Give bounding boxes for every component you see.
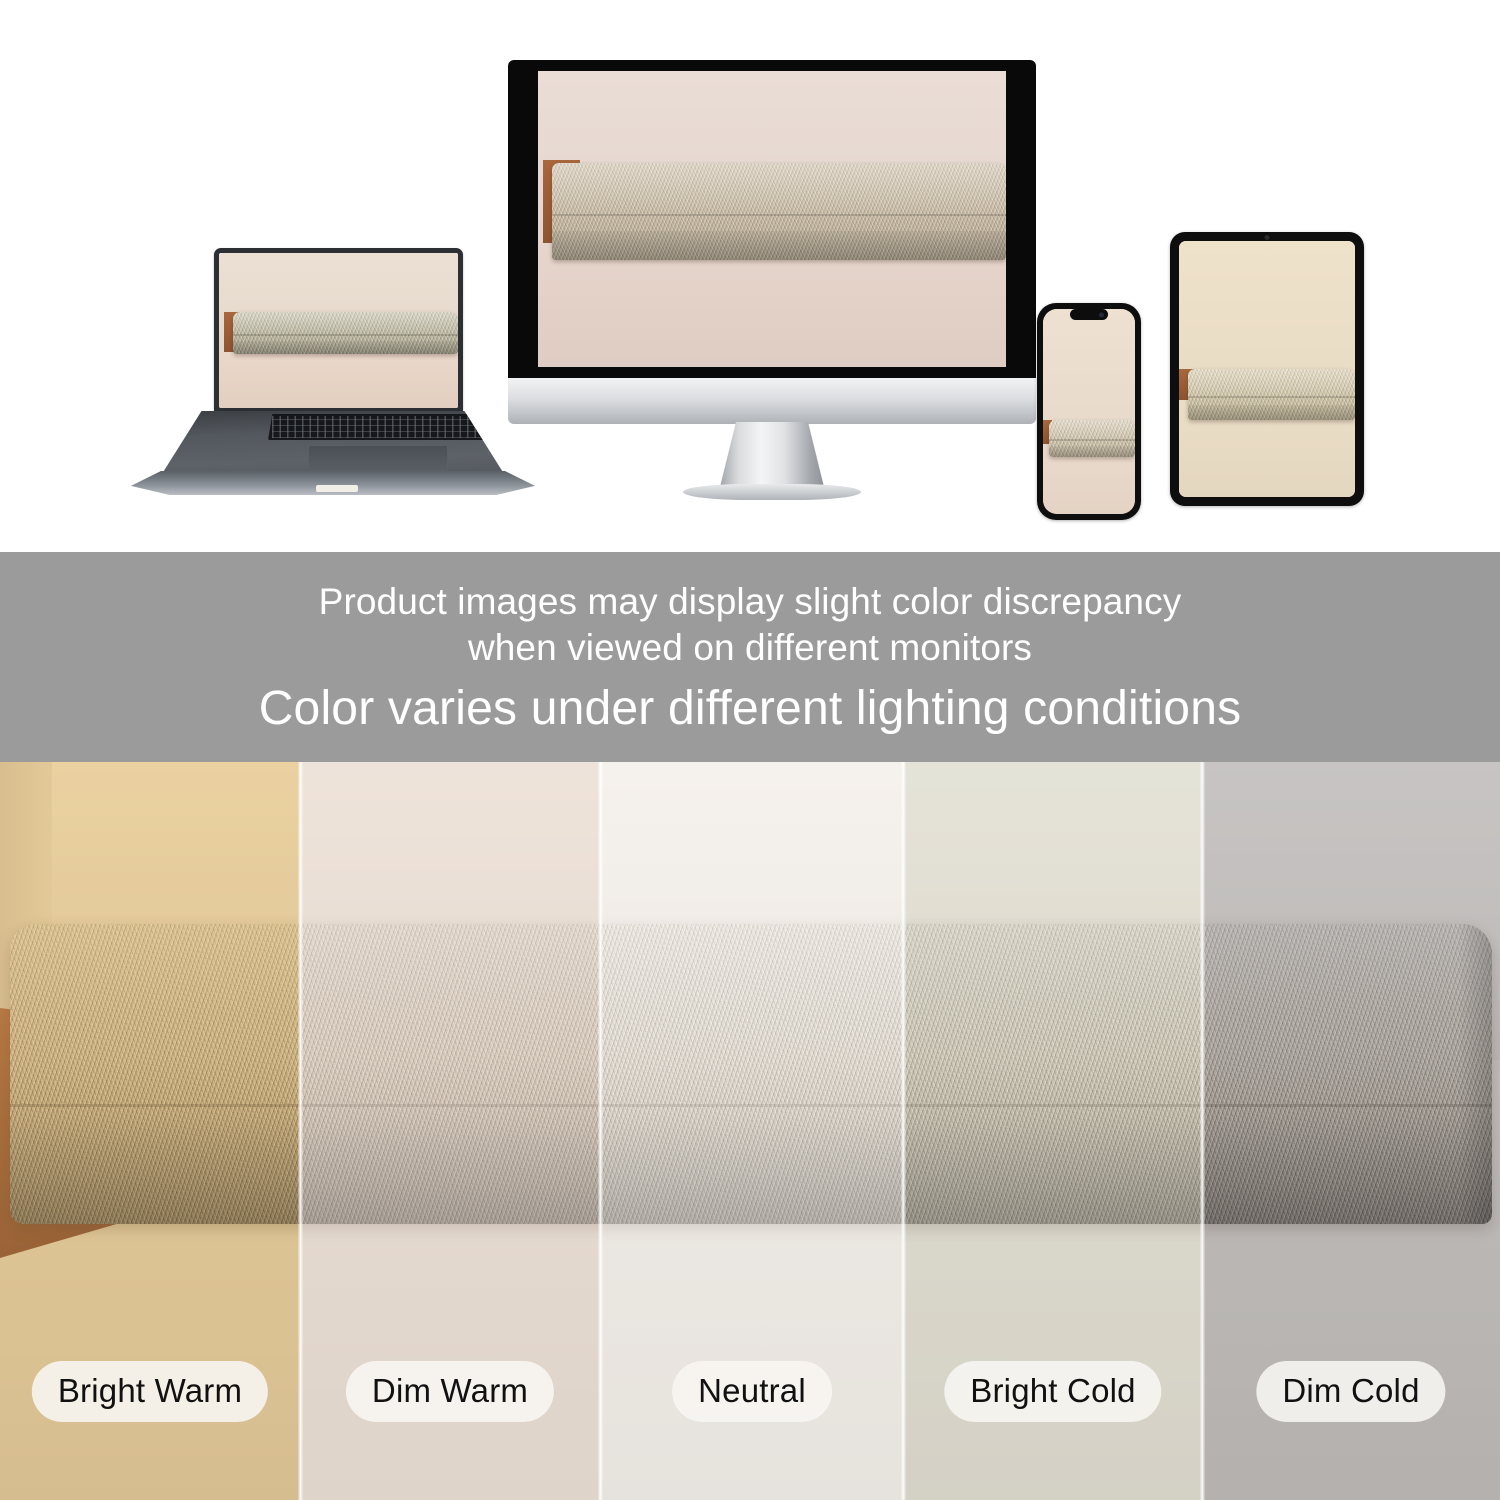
camera-icon — [1265, 235, 1270, 240]
cushion-piping — [233, 334, 458, 336]
phone-screen — [1043, 309, 1135, 514]
photo-wall — [1179, 241, 1355, 379]
cushion-top-face — [1188, 369, 1355, 397]
monitor-screen — [538, 71, 1006, 367]
photo-cushion — [1188, 369, 1355, 420]
strip-divider — [598, 762, 603, 1500]
cushion-front-face — [1188, 405, 1355, 420]
monitor-stand-neck — [719, 422, 825, 491]
lighting-strip-dim-cold[interactable]: Dim Cold — [1202, 762, 1500, 1500]
disclaimer-line-2: when viewed on different monitors — [468, 625, 1032, 671]
lighting-strip-bright-cold[interactable]: Bright Cold — [903, 762, 1202, 1500]
monitor-bezel — [508, 60, 1036, 378]
infographic-page: Product images may display slight color … — [0, 0, 1500, 1500]
photo-wall — [1043, 309, 1135, 430]
lighting-strip-neutral[interactable]: Neutral — [600, 762, 903, 1500]
cushion-piping — [552, 214, 1006, 216]
laptop-base — [118, 411, 548, 497]
phone-mockup — [1037, 303, 1141, 520]
monitor-mockup — [508, 60, 1036, 500]
strip-divider — [298, 762, 303, 1500]
lighting-label-dim-cold: Dim Cold — [1256, 1361, 1445, 1422]
lighting-label-bright-warm: Bright Warm — [32, 1361, 268, 1422]
cushion-front-face — [233, 341, 458, 354]
lighting-label-neutral: Neutral — [672, 1361, 832, 1422]
laptop-screen — [219, 253, 458, 408]
cushion-top-face — [1049, 420, 1135, 440]
lighting-label-dim-warm: Dim Warm — [346, 1361, 554, 1422]
laptop-mockup — [118, 248, 548, 533]
cushion-piping — [1049, 439, 1135, 441]
strip-divider — [901, 762, 906, 1500]
cushion-top-face — [552, 163, 1006, 217]
laptop-trackpad — [308, 445, 448, 473]
dynamic-island-icon — [1070, 309, 1108, 320]
photo-cushion — [1049, 420, 1135, 457]
laptop-deck — [160, 411, 506, 477]
product-photo-laptop — [219, 253, 458, 408]
disclaimer-line-1: Product images may display slight color … — [319, 579, 1182, 625]
cushion-piping — [1188, 396, 1355, 398]
lighting-strip-dim-warm[interactable]: Dim Warm — [300, 762, 600, 1500]
cushion-front-face — [1049, 446, 1135, 457]
cushion-front-face — [552, 231, 1006, 260]
tablet-screen — [1179, 241, 1355, 497]
lighting-label-bright-cold: Bright Cold — [944, 1361, 1161, 1422]
photo-floor — [219, 349, 458, 408]
product-photo-monitor — [538, 71, 1006, 367]
strip-divider — [1200, 762, 1205, 1500]
laptop-lid — [214, 248, 463, 414]
cushion-top-face — [233, 312, 458, 335]
monitor-chin — [508, 378, 1036, 424]
laptop-keyboard — [268, 414, 486, 440]
product-photo-phone — [1043, 309, 1135, 514]
tablet-mockup — [1170, 232, 1364, 506]
product-photo-tablet — [1179, 241, 1355, 497]
photo-cushion — [233, 312, 458, 354]
disclaimer-headline: Color varies under different lighting co… — [259, 679, 1242, 739]
photo-cushion — [552, 163, 1006, 261]
lighting-comparison-section: Bright Warm Dim Warm Neutral Bright Cold — [0, 762, 1500, 1500]
laptop-latch-notch — [316, 485, 358, 492]
monitor-stand-base — [683, 484, 861, 500]
lighting-strip-bright-warm[interactable]: Bright Warm — [0, 762, 300, 1500]
disclaimer-banner: Product images may display slight color … — [0, 552, 1500, 762]
device-mockups-section — [0, 0, 1500, 552]
